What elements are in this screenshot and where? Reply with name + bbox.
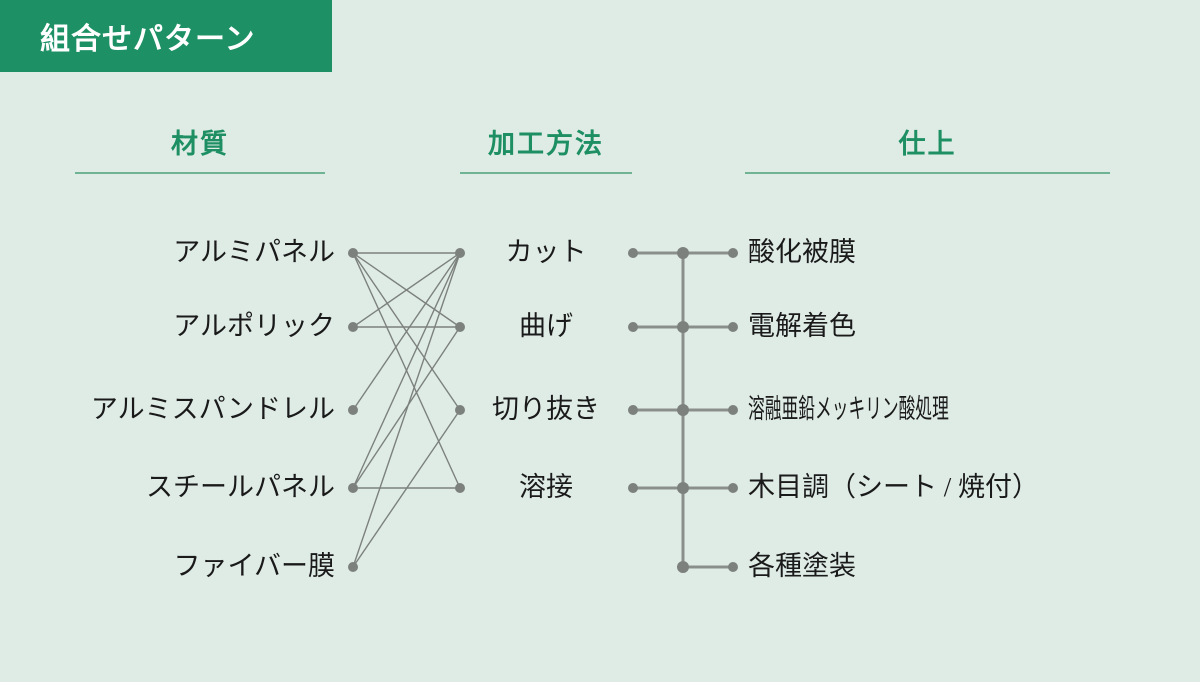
node-material-2 bbox=[348, 405, 358, 415]
material-item-1: アルポリック bbox=[35, 313, 335, 340]
diagram-canvas: 組合せパターン 材質 加工方法 仕上 アルミパネル アルポリック アルミスパンド… bbox=[0, 0, 1200, 682]
column-header-material: 材質 bbox=[75, 122, 325, 161]
edge-material-3-process-1 bbox=[353, 327, 460, 488]
node-trunk-0 bbox=[677, 247, 689, 259]
edge-material-0-process-3 bbox=[353, 253, 460, 488]
material-item-2: アルミスパンドレル bbox=[20, 396, 335, 423]
edge-material-0-process-2 bbox=[353, 253, 460, 410]
edge-material-4-process-2 bbox=[353, 410, 460, 567]
process-item-2: 切り抜き bbox=[466, 396, 626, 423]
column-rule-process bbox=[460, 172, 632, 174]
process-item-0: カット bbox=[466, 239, 626, 266]
edge-material-0-process-1 bbox=[353, 253, 460, 327]
node-trunk-1 bbox=[677, 321, 689, 333]
edge-material-4-process-0 bbox=[353, 253, 460, 567]
node-process-right-2 bbox=[628, 405, 638, 415]
finish-item-2: 溶融亜鉛メッキリン酸処理 bbox=[748, 396, 949, 423]
node-trunk-4 bbox=[677, 561, 689, 573]
edge-material-2-process-0 bbox=[353, 253, 460, 410]
node-material-3 bbox=[348, 483, 358, 493]
node-material-4 bbox=[348, 562, 358, 572]
column-rule-material bbox=[75, 172, 325, 174]
node-trunk-2 bbox=[677, 404, 689, 416]
node-finish-2 bbox=[728, 405, 738, 415]
finish-item-4: 各種塗装 bbox=[748, 553, 856, 580]
node-finish-3 bbox=[728, 483, 738, 493]
node-process-right-0 bbox=[628, 248, 638, 258]
node-process-left-2 bbox=[455, 405, 465, 415]
column-header-process: 加工方法 bbox=[460, 122, 632, 161]
node-process-left-3 bbox=[455, 483, 465, 493]
node-process-right-1 bbox=[628, 322, 638, 332]
column-header-finish: 仕上 bbox=[745, 122, 1110, 161]
column-rule-finish bbox=[745, 172, 1110, 174]
node-trunk-3 bbox=[677, 482, 689, 494]
title-badge-label: 組合せパターン bbox=[40, 14, 256, 58]
process-item-3: 溶接 bbox=[466, 474, 626, 501]
node-finish-4 bbox=[728, 562, 738, 572]
node-finish-0 bbox=[728, 248, 738, 258]
process-item-1: 曲げ bbox=[466, 313, 626, 340]
node-process-right-3 bbox=[628, 483, 638, 493]
material-item-3: スチールパネル bbox=[35, 474, 335, 501]
node-finish-1 bbox=[728, 322, 738, 332]
material-item-0: アルミパネル bbox=[35, 239, 335, 266]
title-badge: 組合せパターン bbox=[0, 0, 332, 72]
edge-material-1-process-0 bbox=[353, 253, 460, 327]
finish-item-3: 木目調（シート / 焼付） bbox=[748, 474, 1039, 501]
material-item-4: ファイバー膜 bbox=[35, 553, 335, 580]
edge-material-3-process-0 bbox=[353, 253, 460, 488]
node-process-left-0 bbox=[455, 248, 465, 258]
finish-item-0: 酸化被膜 bbox=[748, 239, 856, 266]
node-material-1 bbox=[348, 322, 358, 332]
node-material-0 bbox=[348, 248, 358, 258]
finish-item-1: 電解着色 bbox=[748, 313, 856, 340]
node-process-left-1 bbox=[455, 322, 465, 332]
